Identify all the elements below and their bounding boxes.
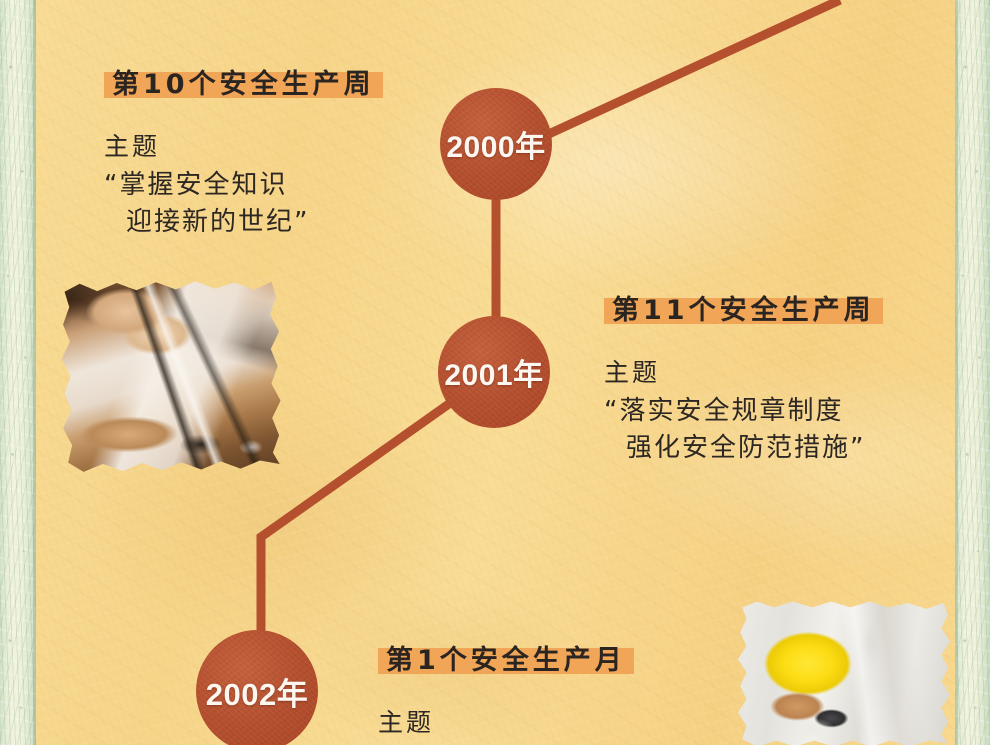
timeline-infographic: 2000年 2001年 2002年 第10个安全生产周 主题 “掌握安全知识 迎… <box>0 0 990 745</box>
year-label-2002: 2002年 <box>206 669 308 714</box>
entry-theme-text: “落实安全规章制度 强化安全防范措施” <box>604 393 984 467</box>
right-decorative-border <box>955 0 990 745</box>
photo-hands-with-tools <box>60 278 282 475</box>
right-border-edge <box>955 0 958 745</box>
entry-heading-week-11: 第11个安全生产周 <box>604 286 883 331</box>
theme-line-1: “落实安全规章制度 <box>604 393 984 430</box>
entry-subject-label: 主题 <box>378 703 778 739</box>
entry-theme-text: “掌握安全知识 迎接新的世纪” <box>104 167 474 241</box>
entry-heading-text: 第11个安全生产周 <box>612 295 875 326</box>
left-decorative-border <box>0 0 36 745</box>
entry-heading-text: 第1个安全生产月 <box>386 645 626 676</box>
left-border-edge <box>33 0 36 745</box>
entry-subject-label: 主题 <box>104 127 474 163</box>
theme-line-1: “掌握安全知识 <box>104 167 474 204</box>
entry-heading-text: 第10个安全生产周 <box>112 69 375 100</box>
connector-2000-to-top <box>514 0 840 150</box>
timeline-node-2002: 2002年 <box>196 630 318 745</box>
entry-subject-label: 主题 <box>604 353 984 389</box>
year-label-2001: 2001年 <box>444 350 543 394</box>
timeline-entry-week-11: 第11个安全生产周 主题 “落实安全规章制度 强化安全防范措施” <box>604 286 984 467</box>
timeline-entry-month-1: 第1个安全生产月 主题 “ <box>378 636 778 745</box>
left-border-texture <box>0 0 36 745</box>
theme-line-2: 强化安全防范措施” <box>604 430 984 467</box>
timeline-node-2001: 2001年 <box>438 316 550 428</box>
right-border-texture <box>955 0 990 745</box>
entry-heading-month-1: 第1个安全生产月 <box>378 636 634 681</box>
timeline-entry-week-10: 第10个安全生产周 主题 “掌握安全知识 迎接新的世纪” <box>104 60 474 241</box>
theme-line-2: 迎接新的世纪” <box>104 204 474 241</box>
entry-heading-week-10: 第10个安全生产周 <box>104 60 383 105</box>
photo-hands-with-tools-image <box>60 278 282 475</box>
